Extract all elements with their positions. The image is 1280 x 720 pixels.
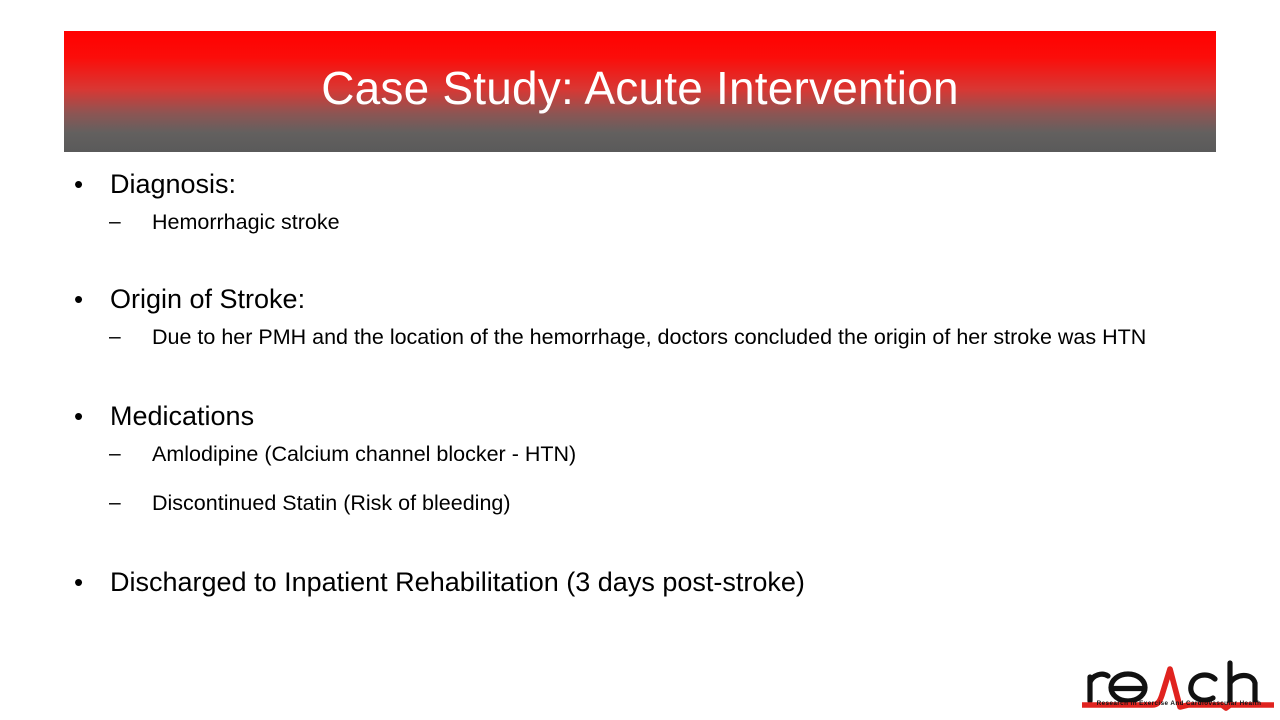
list-item: • Medications xyxy=(64,396,1224,436)
bullet-group-origin-of-stroke: • Origin of Stroke: – Due to her PMH and… xyxy=(64,279,1224,354)
spacer xyxy=(64,520,1224,562)
spacer xyxy=(64,239,1224,279)
list-item: – Due to her PMH and the location of the… xyxy=(64,319,1224,354)
bullet-group-medications: • Medications – Amlodipine (Calcium chan… xyxy=(64,396,1224,520)
title-banner: Case Study: Acute Intervention xyxy=(64,31,1216,152)
bullet-icon: • xyxy=(64,396,110,436)
dash-bullet-icon: – xyxy=(109,204,152,239)
bullet-group-diagnosis: • Diagnosis: – Hemorrhagic stroke xyxy=(64,164,1224,239)
logo-tagline: Research in Exercise And Cardiovascular … xyxy=(1083,700,1275,707)
list-item: – Amlodipine (Calcium channel blocker - … xyxy=(64,436,1224,471)
reach-wordmark-icon xyxy=(1080,655,1276,717)
bullet-icon: • xyxy=(64,562,110,602)
bullet-group-discharge: • Discharged to Inpatient Rehabilitation… xyxy=(64,562,1224,602)
dash-bullet-icon: – xyxy=(109,319,152,354)
bullet-icon: • xyxy=(64,164,110,204)
spacer xyxy=(64,354,1224,396)
dash-bullet-icon: – xyxy=(109,436,152,471)
slide-canvas: Case Study: Acute Intervention • Diagnos… xyxy=(0,0,1280,720)
sub-bullet-text: Discontinued Statin (Risk of bleeding) xyxy=(152,485,511,517)
bullet-heading: Discharged to Inpatient Rehabilitation (… xyxy=(110,562,805,602)
reach-logo xyxy=(1080,655,1276,717)
bullet-heading: Origin of Stroke: xyxy=(110,279,305,319)
list-item: • Origin of Stroke: xyxy=(64,279,1224,319)
spacer xyxy=(64,471,1224,485)
sub-bullet-text: Amlodipine (Calcium channel blocker - HT… xyxy=(152,436,576,468)
slide-body: • Diagnosis: – Hemorrhagic stroke • Orig… xyxy=(64,164,1224,602)
dash-bullet-icon: – xyxy=(109,485,152,520)
list-item: – Discontinued Statin (Risk of bleeding) xyxy=(64,485,1224,520)
bullet-heading: Diagnosis: xyxy=(110,164,236,204)
sub-bullet-text: Due to her PMH and the location of the h… xyxy=(152,319,1146,351)
bullet-heading: Medications xyxy=(110,396,254,436)
sub-bullet-text: Hemorrhagic stroke xyxy=(152,204,340,236)
bullet-icon: • xyxy=(64,279,110,319)
page-title: Case Study: Acute Intervention xyxy=(321,64,959,118)
list-item: • Diagnosis: xyxy=(64,164,1224,204)
list-item: – Hemorrhagic stroke xyxy=(64,204,1224,239)
list-item: • Discharged to Inpatient Rehabilitation… xyxy=(64,562,1224,602)
